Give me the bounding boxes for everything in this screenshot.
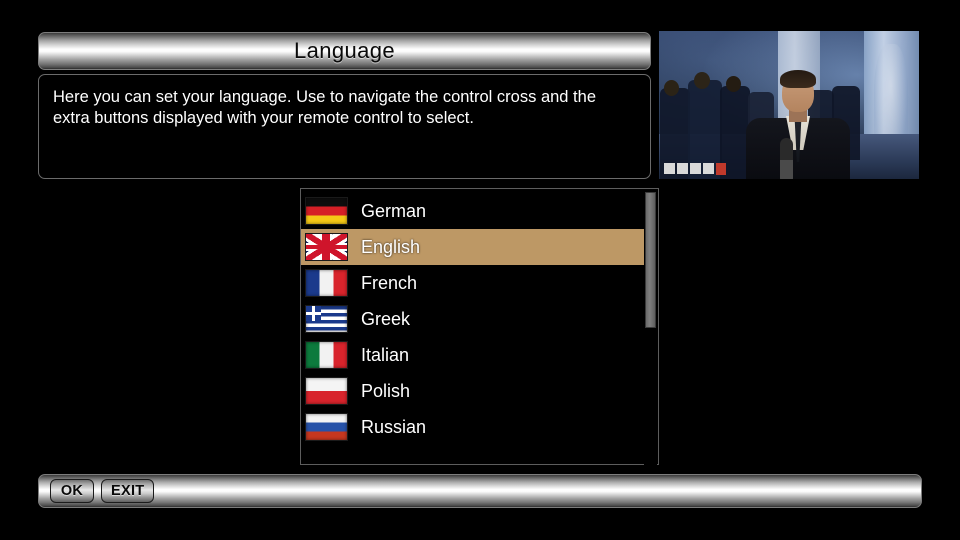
language-list-item[interactable]: French [301, 265, 645, 301]
language-list-item-label: Polish [361, 381, 410, 402]
language-list-item[interactable]: Greek [301, 301, 645, 337]
flag-pl-icon [305, 377, 348, 405]
video-preview[interactable] [658, 30, 920, 180]
flag-gb-cross [306, 234, 347, 260]
language-list-item[interactable]: English [301, 229, 645, 265]
flag-it-icon [305, 341, 348, 369]
page-title: Language [294, 38, 395, 64]
exit-button[interactable]: EXIT [101, 479, 154, 503]
scrollbar-track[interactable] [644, 190, 657, 465]
language-list[interactable]: GermanEnglishFrenchGreekItalianPolishRus… [301, 193, 645, 445]
language-list-item-label: French [361, 273, 417, 294]
language-list-item[interactable]: German [301, 193, 645, 229]
flag-gb-icon [305, 233, 348, 261]
scrollbar-thumb[interactable] [645, 192, 656, 328]
flag-de-icon [305, 197, 348, 225]
flag-ru-icon [305, 413, 348, 441]
tv-settings-screen: Language Here you can set your language.… [0, 0, 960, 540]
language-list-item[interactable]: Italian [301, 337, 645, 373]
preview-border [658, 30, 920, 180]
flag-fr-icon [305, 269, 348, 297]
description-panel: Here you can set your language. Use to n… [38, 74, 651, 179]
language-list-panel: GermanEnglishFrenchGreekItalianPolishRus… [300, 188, 659, 465]
language-list-item-label: English [361, 237, 420, 258]
footer-bar: OK EXIT [38, 474, 922, 508]
language-list-item-label: German [361, 201, 426, 222]
language-list-item[interactable]: Polish [301, 373, 645, 409]
title-bar: Language [38, 32, 651, 70]
exit-button-label: EXIT [111, 483, 144, 499]
language-list-item[interactable]: Russian [301, 409, 645, 445]
ok-button-label: OK [61, 483, 83, 499]
language-list-item-label: Russian [361, 417, 426, 438]
description-text: Here you can set your language. Use to n… [53, 87, 636, 129]
ok-button[interactable]: OK [50, 479, 94, 503]
flag-gr-icon [305, 305, 348, 333]
language-list-item-label: Italian [361, 345, 409, 366]
language-list-item-label: Greek [361, 309, 410, 330]
